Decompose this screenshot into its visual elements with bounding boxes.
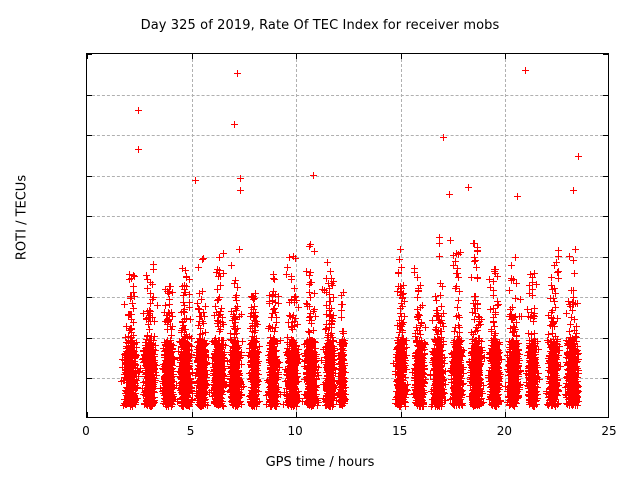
chart-figure: Day 325 of 2019, Rate Of TEC Index for r… <box>0 0 640 480</box>
